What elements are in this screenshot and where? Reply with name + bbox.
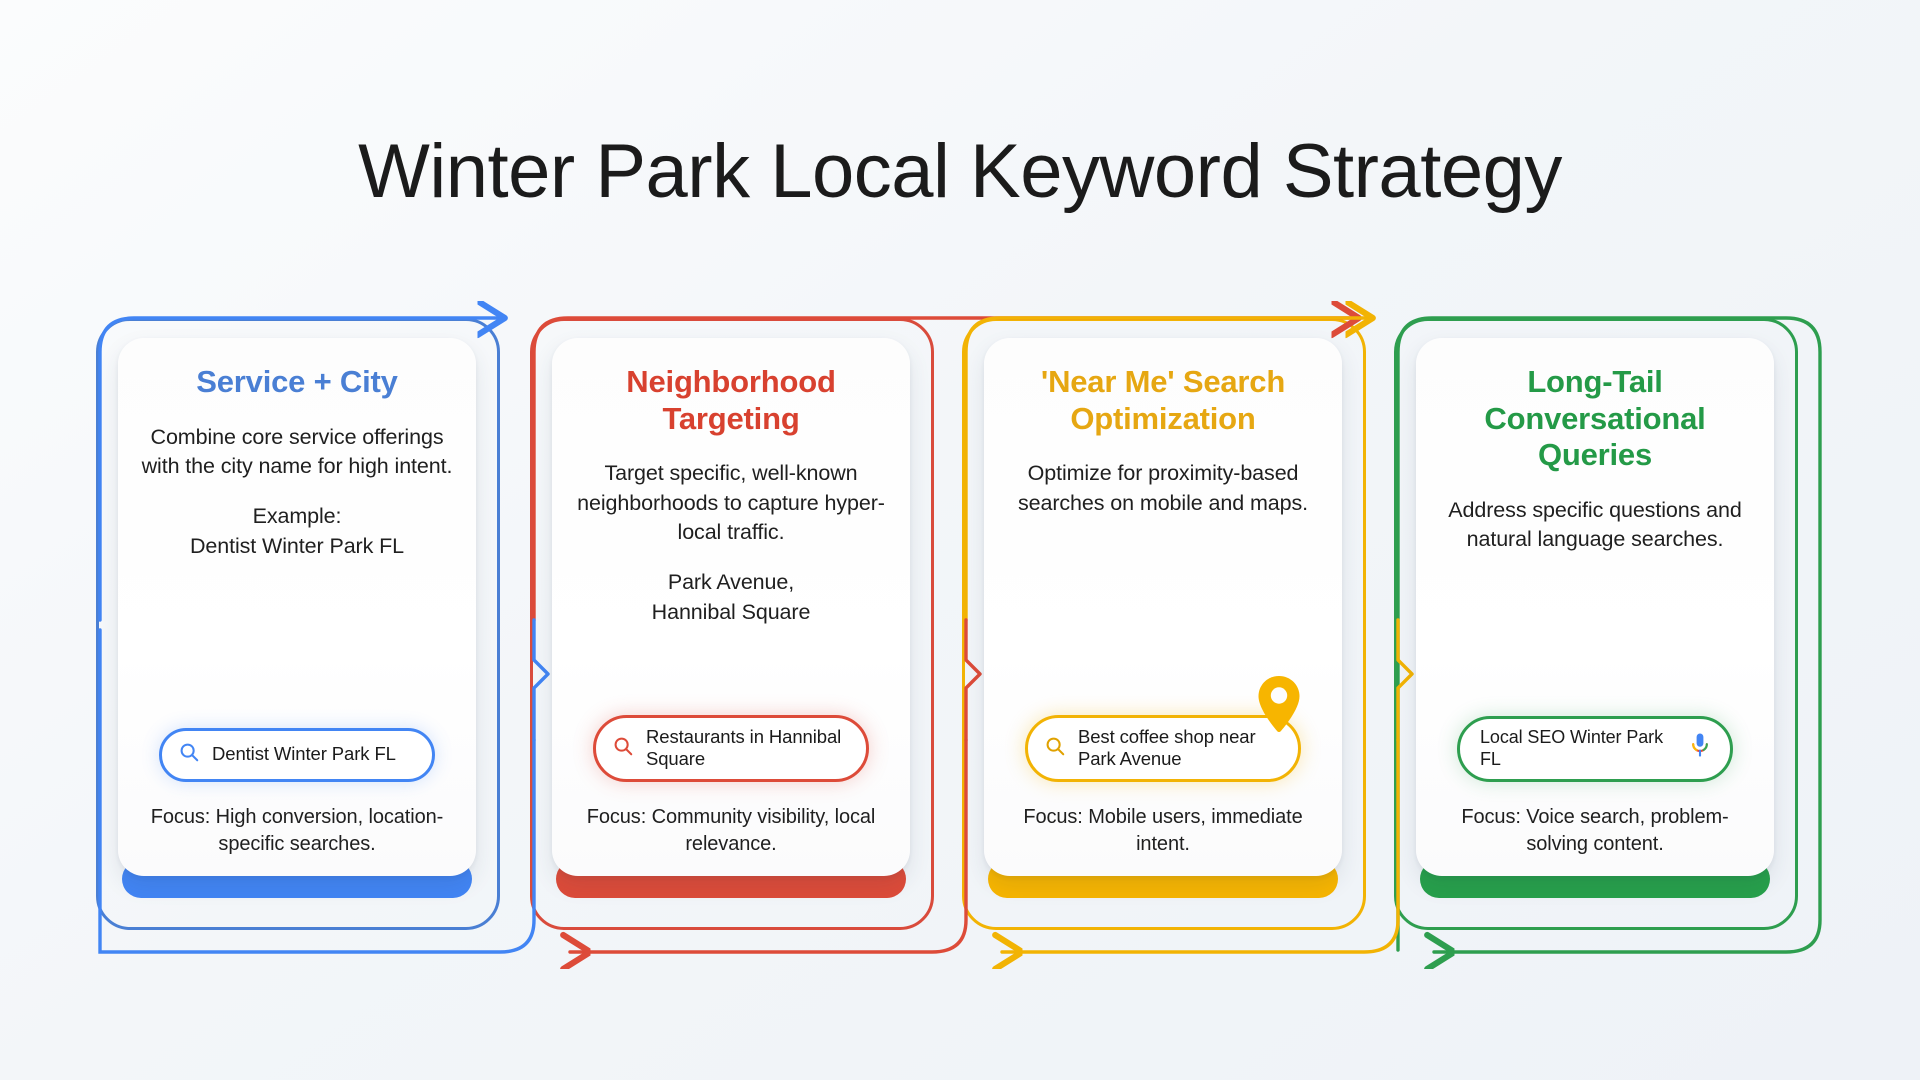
card-description: Address specific questions and natural l… — [1438, 496, 1752, 555]
card-example-label: Example: — [190, 502, 404, 532]
strategy-card-near-me-search[interactable]: 'Near Me' Search Optimization Optimize f… — [984, 338, 1342, 898]
search-pill-zone: Best coffee shop near Park Avenue — [1006, 715, 1320, 782]
search-pill[interactable]: Local SEO Winter Park FL — [1457, 716, 1733, 782]
page-title: Winter Park Local Keyword Strategy — [0, 128, 1920, 215]
search-pill[interactable]: Best coffee shop near Park Avenue — [1025, 715, 1301, 782]
card-focus: Focus: High conversion, location-specifi… — [140, 804, 454, 858]
strategy-card-service-city[interactable]: Service + City Combine core service offe… — [118, 338, 476, 898]
strategy-board: Service + City Combine core service offe… — [96, 300, 1824, 960]
search-icon — [1044, 735, 1066, 762]
strategy-card-long-tail-queries[interactable]: Long-Tail Conversational Queries Address… — [1416, 338, 1774, 898]
search-icon — [178, 741, 200, 768]
card-description: Optimize for proximity-based searches on… — [1006, 459, 1320, 518]
search-pill-zone: Restaurants in Hannibal Square — [574, 715, 888, 782]
search-query-text: Local SEO Winter Park FL — [1480, 727, 1676, 771]
microphone-icon[interactable] — [1690, 732, 1710, 765]
card-focus: Focus: Community visibility, local relev… — [574, 804, 888, 858]
search-pill-zone: Dentist Winter Park FL — [140, 728, 454, 782]
card-description: Combine core service offerings with the … — [140, 423, 454, 482]
card-focus: Focus: Mobile users, immediate intent. — [1006, 804, 1320, 858]
card-example-label: Park Avenue, — [652, 568, 811, 598]
search-pill[interactable]: Restaurants in Hannibal Square — [593, 715, 869, 782]
search-query-text: Restaurants in Hannibal Square — [646, 726, 846, 771]
strategy-card-neighborhood-targeting[interactable]: Neighborhood Targeting Target specific, … — [552, 338, 910, 898]
search-icon — [612, 735, 634, 762]
search-pill[interactable]: Dentist Winter Park FL — [159, 728, 435, 782]
card-example: Example: Dentist Winter Park FL — [190, 502, 404, 561]
search-pill-zone: Local SEO Winter Park FL — [1438, 716, 1752, 782]
card-title: Service + City — [196, 364, 397, 401]
card-description: Target specific, well-known neighborhood… — [574, 459, 888, 548]
map-pin-icon — [1256, 674, 1302, 739]
card-example-value: Hannibal Square — [652, 598, 811, 628]
card-title: Neighborhood Targeting — [574, 364, 888, 437]
card-example-value: Dentist Winter Park FL — [190, 532, 404, 562]
card-focus: Focus: Voice search, problem-solving con… — [1438, 804, 1752, 858]
card-title: Long-Tail Conversational Queries — [1438, 364, 1752, 474]
search-query-text: Dentist Winter Park FL — [212, 743, 412, 766]
card-title: 'Near Me' Search Optimization — [1006, 364, 1320, 437]
search-query-text: Best coffee shop near Park Avenue — [1078, 726, 1278, 771]
card-example: Park Avenue, Hannibal Square — [652, 568, 811, 627]
